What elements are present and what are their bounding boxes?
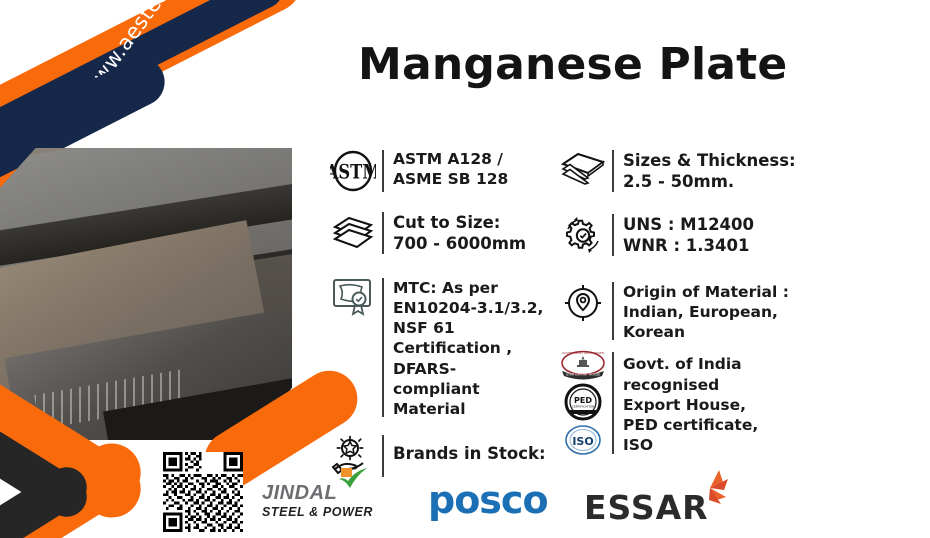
brand-logos: JINDAL STEEL & POWER posco ESSAR [262,476,732,534]
spec-column-right: Sizes & Thickness: 2.5 - 50mm. [556,148,856,462]
spec-certifications: STAR EXPORT HOUSE GOVERNMENT RECOGNISED … [556,350,856,456]
certification-badges-icon: STAR EXPORT HOUSE GOVERNMENT RECOGNISED … [556,350,610,456]
spec-certifications-text: Govt. of India recognised Export House, … [623,350,758,455]
svg-text:GOVERNMENT RECOGNISED: GOVERNMENT RECOGNISED [562,352,605,356]
spec-divider [382,435,384,477]
spec-line: ASTM A128 / [393,150,508,170]
spec-line: Indian, European, [623,302,789,322]
spec-column-left: ASTM ASTM A128 / ASME SB 128 Cut to Size… [326,148,558,485]
spec-origin: Origin of Material : Indian, European, K… [556,280,856,342]
poster-canvas: www.aesteiron.com Manganese Plate ASTM [0,0,930,538]
svg-text:CERTIFICATION: CERTIFICATION [572,405,594,409]
logo-posco: posco [428,478,548,522]
spec-mtc-text: MTC: As per EN10204-3.1/3.2, NSF 61 Cert… [393,276,543,419]
svg-text:ISO: ISO [572,435,593,448]
jindal-tagline: STEEL & POWER [262,505,390,519]
spec-line: Origin of Material : [623,282,789,302]
spec-line: Sizes & Thickness: [623,150,796,171]
svg-text:STAR EXPORT HOUSE: STAR EXPORT HOUSE [566,373,600,377]
spec-line: WNR : 1.3401 [623,235,754,256]
jindal-checkmark-icon [338,466,368,490]
spec-line: UNS : M12400 [623,214,754,235]
spec-divider [382,212,384,254]
spec-cut-text: Cut to Size: 700 - 6000mm [393,210,526,254]
spec-line: recognised [623,375,758,395]
spec-line: Material [393,399,543,419]
spec-brands-text: Brands in Stock: [393,433,546,464]
gear-check-icon [556,212,610,258]
logo-jindal: JINDAL STEEL & POWER [262,482,390,519]
spec-astm-text: ASTM A128 / ASME SB 128 [393,148,508,190]
spec-line: 2.5 - 50mm. [623,171,796,192]
astm-logo-icon: ASTM [326,148,380,194]
spec-line: NSF 61 [393,318,543,338]
logo-essar: ESSAR [584,488,709,527]
spec-divider [612,352,614,454]
spec-uns-text: UNS : M12400 WNR : 1.3401 [623,212,754,256]
jindal-name: JINDAL [262,482,390,505]
spec-line: DFARS- [393,359,543,379]
spec-divider [612,214,614,256]
product-photo [0,148,292,440]
ped-certificate-icon: PED CERTIFICATION [563,383,603,421]
spec-line: 700 - 6000mm [393,233,526,254]
spec-line: Govt. of India [623,354,758,374]
spec-line: Cut to Size: [393,212,526,233]
plate-stack-icon [326,210,380,256]
spec-cut-to-size: Cut to Size: 700 - 6000mm [326,210,558,256]
spec-divider [382,150,384,192]
spec-sizes-text: Sizes & Thickness: 2.5 - 50mm. [623,148,796,192]
spec-line: ISO [623,435,758,455]
qr-code[interactable] [155,452,251,532]
spec-line: PED certificate, [623,415,758,435]
spec-line: Export House, [623,395,758,415]
spec-astm: ASTM ASTM A128 / ASME SB 128 [326,148,558,194]
target-location-icon [556,280,610,326]
iso-certificate-icon: ISO [562,424,604,456]
spec-line: ASME SB 128 [393,170,508,190]
spec-sizes-thickness: Sizes & Thickness: 2.5 - 50mm. [556,148,856,194]
spec-line: EN10204-3.1/3.2, [393,298,543,318]
spec-origin-text: Origin of Material : Indian, European, K… [623,280,789,342]
svg-text:ASTM: ASTM [330,161,376,184]
spec-divider [612,282,614,340]
spec-mtc: MTC: As per EN10204-3.1/3.2, NSF 61 Cert… [326,276,558,419]
essar-pinwheel-icon [690,468,730,508]
spec-divider [382,278,384,417]
spec-line: Korean [623,322,789,342]
spec-divider [612,150,614,192]
spec-uns-wnr: UNS : M12400 WNR : 1.3401 [556,212,856,258]
spec-line: MTC: As per [393,278,543,298]
page-title: Manganese Plate [358,39,787,90]
spec-line: compliant [393,379,543,399]
spec-line: Certification , [393,338,543,358]
govt-of-india-emblem-icon: STAR EXPORT HOUSE GOVERNMENT RECOGNISED [557,350,609,380]
sheets-stack-icon [556,148,610,194]
certificate-icon [326,276,380,322]
